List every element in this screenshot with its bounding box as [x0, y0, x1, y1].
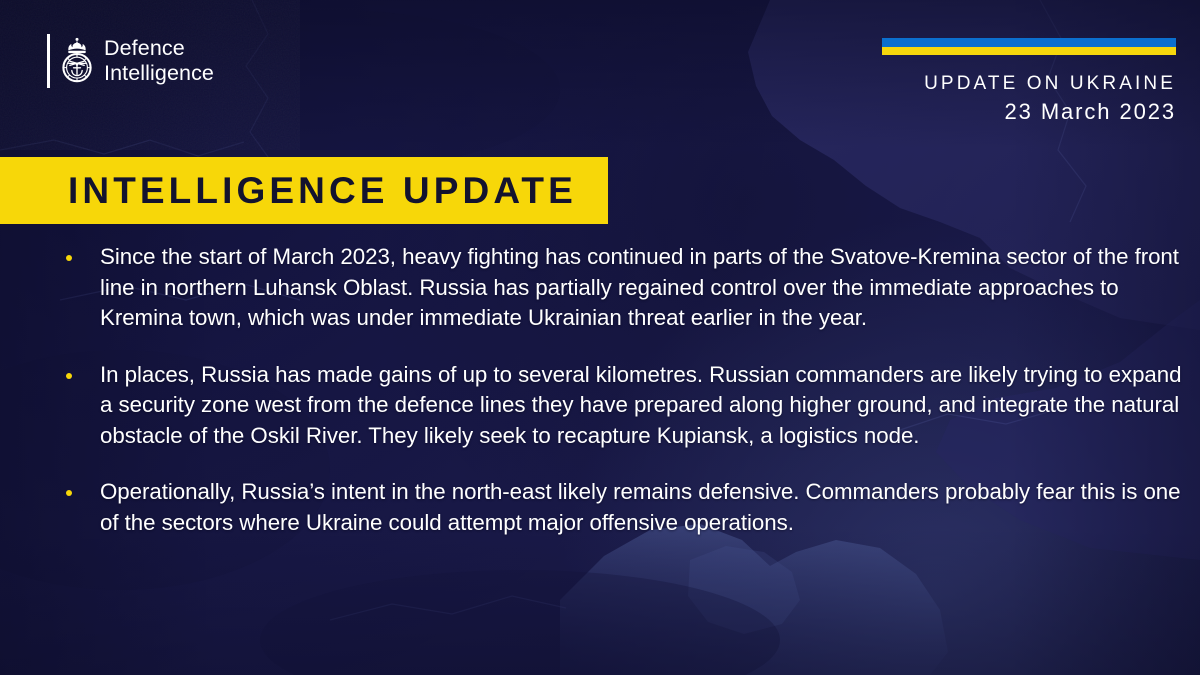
brand-line-defence: Defence: [104, 36, 214, 61]
bullet-dot-icon: [66, 373, 72, 379]
bullet-text-2: In places, Russia has made gains of up t…: [100, 360, 1184, 452]
brand-divider-rule: [47, 34, 50, 88]
bullet-dot-icon: [66, 255, 72, 261]
bullet-item-3: Operationally, Russia’s intent in the no…: [0, 477, 1200, 538]
intelligence-update-poster: Defence Intelligence UPDATE ON UKRAINE 2…: [0, 0, 1200, 675]
brand-line-intelligence: Intelligence: [104, 61, 214, 86]
intelligence-update-banner: INTELLIGENCE UPDATE: [0, 157, 608, 224]
header-title: UPDATE ON UKRAINE: [924, 70, 1176, 97]
flag-stripe-yellow: [882, 47, 1176, 56]
flag-stripe-blue: [882, 38, 1176, 47]
bullet-dot-icon: [66, 490, 72, 496]
ukraine-flag-bar-icon: [882, 38, 1176, 55]
header-date: 23 March 2023: [924, 97, 1176, 126]
brand-lockup: Defence Intelligence: [47, 33, 214, 89]
royal-crest-icon: [59, 37, 95, 85]
bullet-text-1: Since the start of March 2023, heavy fig…: [100, 242, 1184, 334]
bullet-text-3: Operationally, Russia’s intent in the no…: [100, 477, 1184, 538]
banner-label: INTELLIGENCE UPDATE: [68, 171, 577, 211]
bullet-item-2: In places, Russia has made gains of up t…: [0, 360, 1200, 452]
header-meta: UPDATE ON UKRAINE 23 March 2023: [924, 70, 1176, 126]
brand-text: Defence Intelligence: [95, 36, 214, 86]
bullet-list: Since the start of March 2023, heavy fig…: [0, 242, 1200, 538]
bullet-item-1: Since the start of March 2023, heavy fig…: [0, 242, 1200, 334]
